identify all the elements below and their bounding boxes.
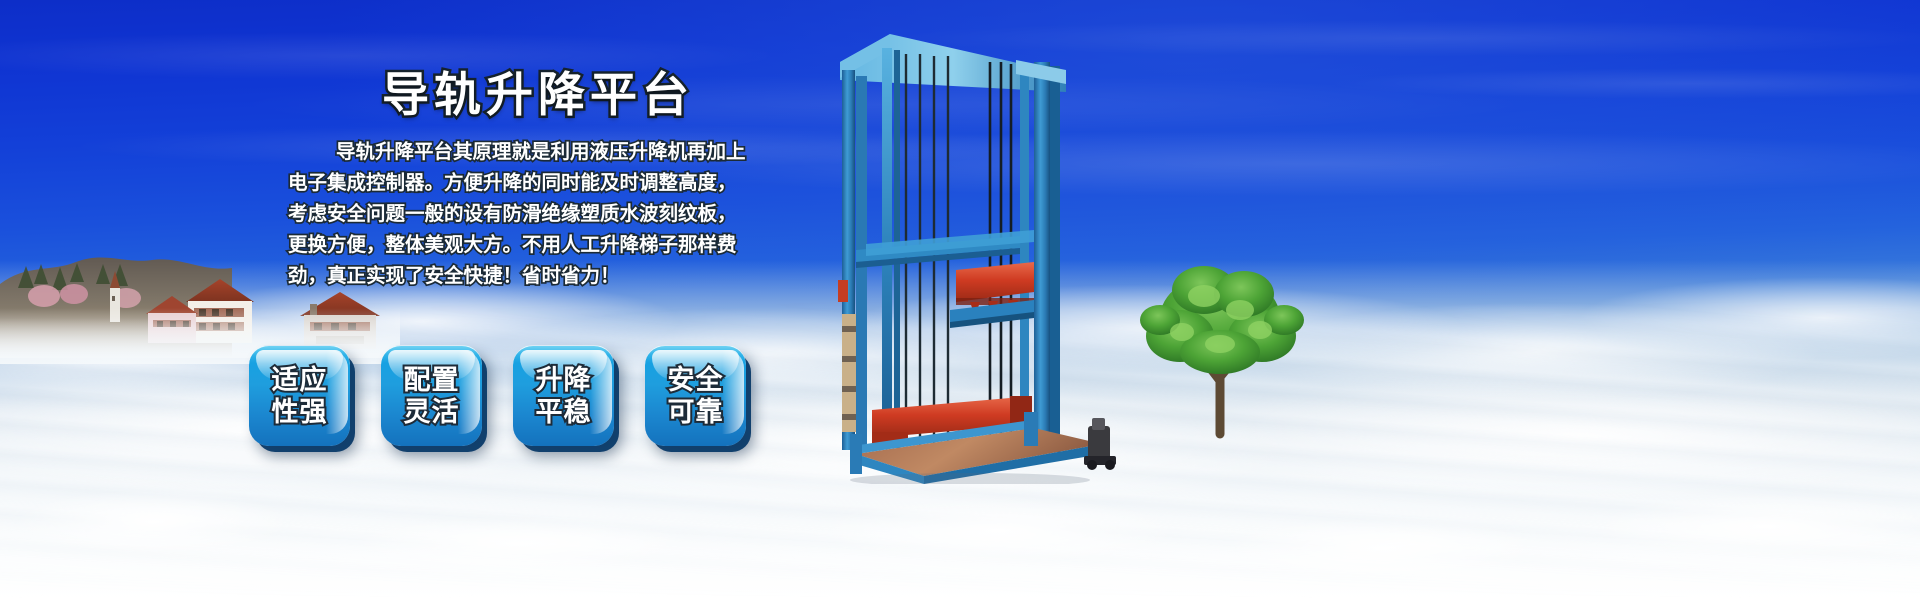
feature-badge-line1: 适应 <box>272 365 328 396</box>
paragraph-line: 考虑安全问题一般的设有防滑绝缘塑质水波刻纹板， <box>288 198 768 229</box>
feature-badge-line2: 灵活 <box>404 397 460 428</box>
feature-badge-line1: 安全 <box>668 365 724 396</box>
description-paragraph: 导轨升降平台其原理就是利用液压升降机再加上 电子集成控制器。方便升降的同时能及时… <box>288 136 768 291</box>
paragraph-line: 导轨升降平台其原理就是利用液压升降机再加上 <box>288 136 768 167</box>
feature-badge-safety[interactable]: 安全 可靠 <box>645 345 746 446</box>
feature-badge-label: 升降 平稳 <box>513 346 614 446</box>
promo-banner: 导轨升降平台 导轨升降平台其原理就是利用液压升降机再加上 电子集成控制器。方便升… <box>0 0 1920 600</box>
feature-badge-line1: 升降 <box>536 365 592 396</box>
feature-badge-label: 适应 性强 <box>249 346 350 446</box>
feature-badge-row: 适应 性强 配置 灵活 升降 平稳 安全 可靠 <box>249 345 746 446</box>
feature-badge-line1: 配置 <box>404 365 460 396</box>
feature-badge-smooth-lifting[interactable]: 升降 平稳 <box>513 345 614 446</box>
paragraph-line: 劲，真正实现了安全快捷！省时省力！ <box>288 260 768 291</box>
green-tree-illustration <box>1108 244 1338 444</box>
feature-badge-adaptability[interactable]: 适应 性强 <box>249 345 350 446</box>
paragraph-line: 电子集成控制器。方便升降的同时能及时调整高度， <box>288 167 768 198</box>
feature-badge-configuration[interactable]: 配置 灵活 <box>381 345 482 446</box>
feature-badge-line2: 性强 <box>272 397 328 428</box>
page-title: 导轨升降平台 <box>382 56 694 125</box>
feature-badge-label: 安全 可靠 <box>645 346 746 446</box>
feature-badge-line2: 平稳 <box>536 397 592 428</box>
paragraph-line: 更换方便，整体美观大方。不用人工升降梯子那样费 <box>288 229 768 260</box>
guide-rail-lift-platform-image <box>820 14 1130 484</box>
feature-badge-line2: 可靠 <box>668 397 724 428</box>
feature-badge-label: 配置 灵活 <box>381 346 482 446</box>
